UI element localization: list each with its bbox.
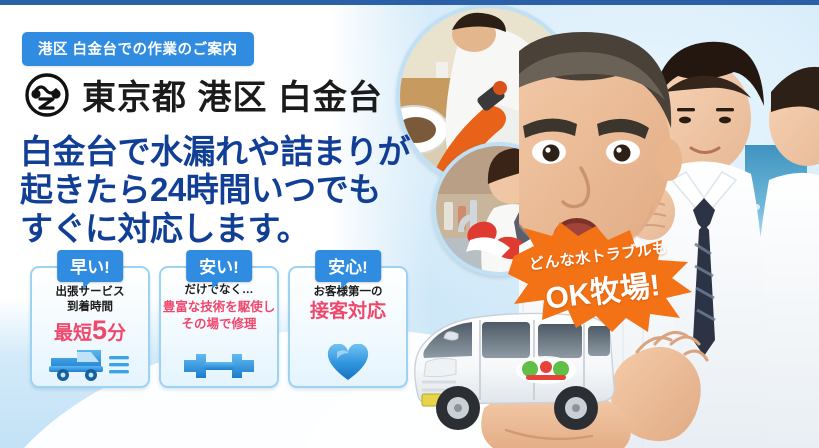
burst-text: どんな水トラブルも OK牧場! bbox=[502, 211, 700, 345]
card-tag-cheap: 安い! bbox=[186, 250, 252, 282]
top-border-rule bbox=[0, 0, 819, 5]
card-sub-fast-line2: 到着時間 bbox=[32, 300, 148, 315]
area-badge: 港区 白金台での作業のご案内 bbox=[22, 32, 254, 66]
card-icon-slot-cheap bbox=[161, 342, 277, 382]
card-icon-slot-reassuring bbox=[290, 342, 406, 382]
headline-line-1: 白金台で水漏れや詰まりが bbox=[20, 133, 410, 171]
heart-icon bbox=[327, 344, 369, 382]
card-main-cheap-line2: その場で修理 bbox=[161, 317, 277, 333]
ok-bokujo-burst: どんな水トラブルも OK牧場! bbox=[508, 222, 694, 334]
headline-line-3: すぐに対応します。 bbox=[20, 210, 410, 248]
page-title: 白金台で水漏れや詰まりが 起きたら24時間いつでも すぐに対応します。 bbox=[20, 133, 410, 248]
card-main-cheap-line1: 豊富な技術を駆使し bbox=[161, 300, 277, 316]
wrench-icon bbox=[180, 350, 258, 382]
card-icon-slot-fast bbox=[32, 342, 148, 382]
feature-card-fast[interactable]: 早い! 出張サービス 到着時間 最短5分 bbox=[30, 266, 150, 388]
card-tag-reassuring: 安心! bbox=[315, 250, 381, 282]
city-title: 東京都 港区 白金台 bbox=[82, 70, 383, 119]
card-tag-fast: 早い! bbox=[57, 250, 123, 282]
feature-card-reassuring[interactable]: 安心! お客様第一の 接客対応 bbox=[288, 266, 408, 388]
headline-line-2: 起きたら24時間いつでも bbox=[20, 171, 410, 209]
tokyo-metropolitan-emblem-icon bbox=[24, 72, 70, 118]
service-banner: どんな水トラブルも OK牧場! 港区 白金台での作業のご案内 東京都 港区 白金… bbox=[0, 0, 819, 448]
feature-card-cheap[interactable]: 安い! だけでなく… 豊富な技術を駆使し その場で修理 bbox=[159, 266, 279, 388]
card-main-fast: 最短5分 bbox=[32, 316, 148, 344]
delivery-truck-icon bbox=[47, 344, 133, 382]
card-main-fast-number: 5 bbox=[92, 315, 107, 345]
feature-card-list: 早い! 出張サービス 到着時間 最短5分 bbox=[30, 266, 408, 388]
card-main-reassuring: 接客対応 bbox=[290, 302, 406, 322]
city-line: 東京都 港区 白金台 bbox=[24, 70, 383, 119]
